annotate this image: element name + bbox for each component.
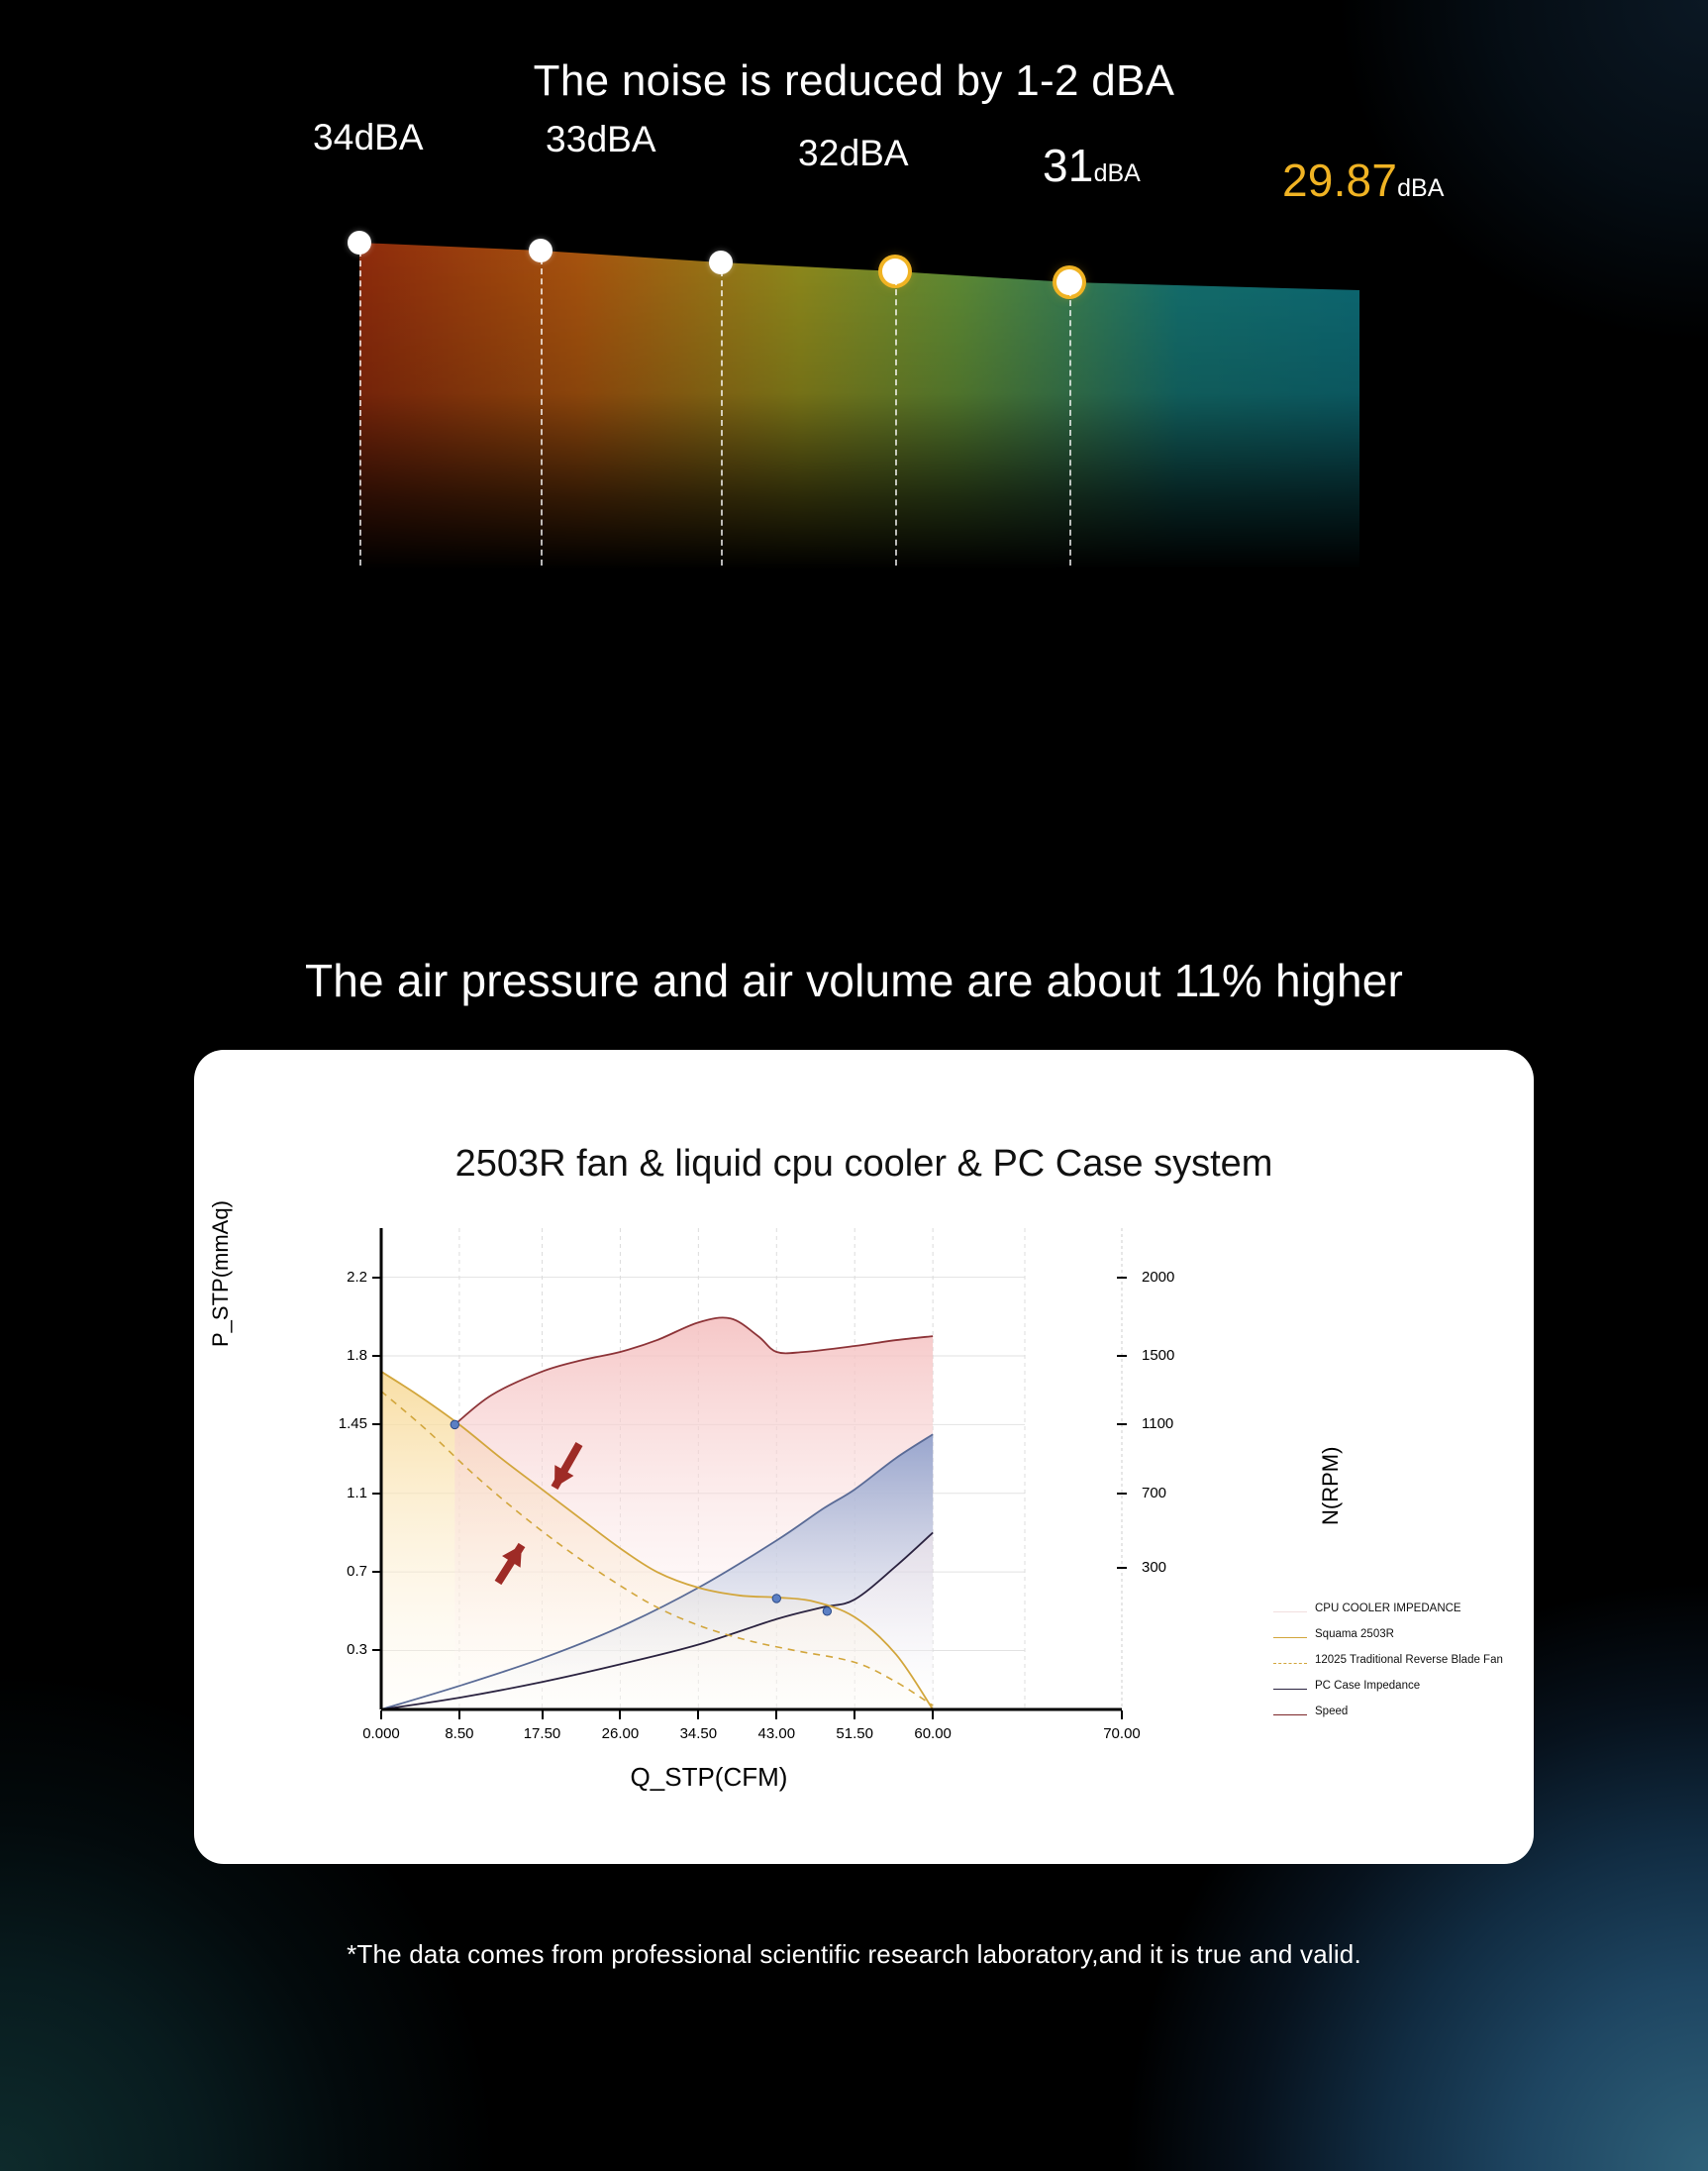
y-tick-mark-right: [1117, 1493, 1127, 1495]
legend-label: 12025 Traditional Reverse Blade Fan: [1315, 1653, 1503, 1667]
legend-label: PC Case Impedance: [1315, 1679, 1420, 1693]
x-tick-mark: [697, 1710, 699, 1719]
x-axis-title: Q_STP(CFM): [194, 1762, 1224, 1793]
pressure-title: The air pressure and air volume are abou…: [0, 954, 1708, 1007]
noise-label-33: 33dBA: [546, 119, 656, 160]
x-tick-mark: [854, 1710, 855, 1719]
y-tick-left-0.7: 0.7: [320, 1563, 367, 1580]
x-tick-mark: [542, 1710, 544, 1719]
noise-gradient-band: [359, 243, 1359, 569]
x-tick-mark: [932, 1710, 934, 1719]
noise-guide-line: [721, 270, 723, 566]
y-tick-mark-right: [1117, 1277, 1127, 1279]
legend-item[interactable]: CPU COOLER IMPEDANCE: [1273, 1602, 1521, 1618]
y-tick-mark-left: [372, 1571, 382, 1573]
y-tick-mark-left: [372, 1493, 382, 1495]
chart-svg: [381, 1228, 1025, 1709]
legend-item[interactable]: PC Case Impedance: [1273, 1679, 1521, 1696]
x-tick-43.00: 43.00: [739, 1725, 814, 1742]
noise-unit: dBA: [840, 133, 909, 173]
x-tick-mark: [775, 1710, 777, 1719]
x-tick-34.50: 34.50: [660, 1725, 736, 1742]
y-tick-right-2000: 2000: [1142, 1269, 1174, 1286]
noise-unit: dBA: [1094, 159, 1141, 187]
noise-value: 32: [798, 133, 840, 173]
y-tick-left-1.45: 1.45: [320, 1415, 367, 1432]
x-tick-0.000: 0.000: [344, 1725, 419, 1742]
noise-unit: dBA: [1397, 174, 1444, 202]
data-point-marker[interactable]: [772, 1595, 780, 1602]
noise-value: 29.87: [1282, 155, 1397, 206]
y-tick-mark-left: [372, 1649, 382, 1651]
legend-label: Squama 2503R: [1315, 1627, 1394, 1641]
data-point-marker[interactable]: [823, 1607, 831, 1615]
y-axis-right-title: N(RPM): [1318, 1447, 1344, 1525]
legend-label: Speed: [1315, 1705, 1348, 1718]
plot-area: 2.21.81.451.10.70.32000150011007003000.0…: [381, 1228, 1025, 1709]
y-tick-right-300: 300: [1142, 1559, 1166, 1576]
x-tick-8.50: 8.50: [422, 1725, 497, 1742]
chart-title: 2503R fan & liquid cpu cooler & PC Case …: [194, 1143, 1534, 1186]
y-tick-right-1100: 1100: [1142, 1415, 1173, 1432]
y-tick-mark-right: [1117, 1423, 1127, 1425]
noise-label-32: 32dBA: [798, 133, 909, 174]
noise-guide-line: [1069, 290, 1071, 566]
noise-label-31: 31dBA: [1043, 139, 1141, 192]
y-tick-left-1.8: 1.8: [320, 1347, 367, 1364]
legend-item[interactable]: Speed: [1273, 1705, 1521, 1721]
y-tick-right-700: 700: [1142, 1485, 1166, 1501]
noise-guide-line: [541, 258, 543, 566]
y-tick-mark-left: [372, 1277, 382, 1279]
y-tick-mark-right: [1117, 1355, 1127, 1357]
noise-label-34: 34dBA: [313, 117, 424, 158]
chart-card: 2503R fan & liquid cpu cooler & PC Case …: [194, 1050, 1534, 1864]
noise-gradient-svg: [359, 243, 1359, 569]
noise-guide-line: [895, 279, 897, 566]
y-tick-mark-left: [372, 1423, 382, 1425]
x-tick-17.50: 17.50: [505, 1725, 580, 1742]
legend-item[interactable]: 12025 Traditional Reverse Blade Fan: [1273, 1653, 1521, 1670]
y-tick-mark-left: [372, 1355, 382, 1357]
x-tick-mark: [1121, 1710, 1123, 1719]
x-tick-mark: [619, 1710, 621, 1719]
y-tick-left-0.3: 0.3: [320, 1641, 367, 1658]
legend-swatch-icon: [1273, 1606, 1307, 1618]
x-tick-70.00: 70.00: [1084, 1725, 1159, 1742]
chart-legend: CPU COOLER IMPEDANCESquama 2503R12025 Tr…: [1273, 1602, 1521, 1730]
noise-value: 33: [546, 119, 587, 159]
legend-swatch-icon: [1273, 1684, 1307, 1696]
x-tick-mark: [458, 1710, 460, 1719]
x-tick-51.50: 51.50: [817, 1725, 892, 1742]
x-tick-26.00: 26.00: [582, 1725, 657, 1742]
legend-swatch-icon: [1273, 1632, 1307, 1644]
y-tick-right-1500: 1500: [1142, 1347, 1174, 1364]
noise-guide-line: [359, 251, 361, 566]
y-axis-left-title: P_STP(mmAq): [208, 1200, 234, 1347]
noise-value: 31: [1043, 140, 1094, 191]
legend-label: CPU COOLER IMPEDANCE: [1315, 1602, 1461, 1615]
noise-section: The noise is reduced by 1-2 dBA: [0, 0, 1708, 812]
data-point-marker[interactable]: [451, 1420, 458, 1428]
y-tick-left-2.2: 2.2: [320, 1269, 367, 1286]
footnote: *The data comes from professional scient…: [0, 1939, 1708, 1970]
noise-unit: dBA: [587, 119, 656, 159]
x-tick-60.00: 60.00: [895, 1725, 970, 1742]
legend-swatch-icon: [1273, 1709, 1307, 1721]
noise-value: 34: [313, 117, 354, 157]
noise-label-29.87: 29.87dBA: [1282, 154, 1444, 207]
y-tick-mark-right: [1117, 1567, 1127, 1569]
legend-item[interactable]: Squama 2503R: [1273, 1627, 1521, 1644]
y-tick-left-1.1: 1.1: [320, 1485, 367, 1501]
x-tick-mark: [380, 1710, 382, 1719]
legend-swatch-icon: [1273, 1658, 1307, 1670]
noise-title: The noise is reduced by 1-2 dBA: [0, 56, 1708, 106]
noise-unit: dBA: [354, 117, 424, 157]
